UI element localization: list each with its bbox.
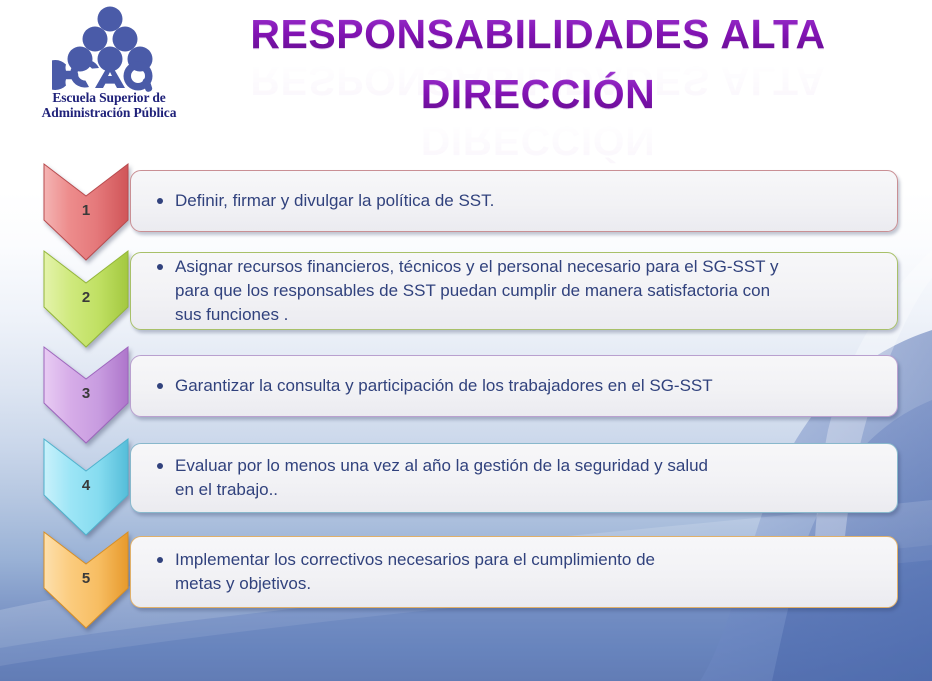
chevron-step-3[interactable] [42, 345, 130, 445]
chevron-step-1[interactable] [42, 162, 130, 262]
slide-canvas: Escuela Superior de Administración Públi… [0, 0, 932, 681]
slide-title: RESPONSABILIDADES ALTA RESPONSABILIDADES… [218, 10, 858, 118]
esap-logo-mark [52, 6, 168, 92]
bullet-text-cont: metas y objetivos. [153, 572, 883, 596]
bullet-text: Garantizar la consulta y participación d… [153, 374, 883, 398]
bullet-text: Definir, firmar y divulgar la política d… [153, 189, 883, 213]
bullet-text-cont: sus funciones . [153, 303, 883, 327]
page-title-line-1-text: RESPONSABILIDADES ALTA [250, 11, 825, 57]
esap-logo-text-line2: Administración Pública [14, 105, 204, 120]
bullet-text: Evaluar por lo menos una vez al año la g… [153, 454, 883, 478]
callout-box-1: Definir, firmar y divulgar la política d… [130, 170, 898, 232]
chevron-step-5[interactable] [42, 530, 130, 630]
bullet-text-cont: para que los responsables de SST puedan … [153, 279, 883, 303]
callout-box-4: Evaluar por lo menos una vez al año la g… [130, 443, 898, 513]
callout-box-3: Garantizar la consulta y participación d… [130, 355, 898, 417]
page-title-line-2: DIRECCIÓN DIRECCIÓN [218, 70, 858, 118]
esap-logo: Escuela Superior de Administración Públi… [14, 4, 204, 130]
callout-box-2: Asignar recursos financieros, técnicos y… [130, 252, 898, 330]
chevron-step-2[interactable] [42, 249, 130, 349]
callout-box-5: Implementar los correctivos necesarios p… [130, 536, 898, 608]
esap-logo-text: Escuela Superior de Administración Públi… [14, 90, 204, 120]
esap-logo-text-line1: Escuela Superior de [14, 90, 204, 105]
bullet-text: Asignar recursos financieros, técnicos y… [153, 255, 883, 279]
page-title-line-2-text: DIRECCIÓN [421, 71, 656, 117]
bullet-text: Implementar los correctivos necesarios p… [153, 548, 883, 572]
chevron-step-4[interactable] [42, 437, 130, 537]
page-title-line-1: RESPONSABILIDADES ALTA RESPONSABILIDADES… [218, 10, 858, 58]
page-title-line-2-reflection: DIRECCIÓN [218, 118, 858, 166]
bullet-text-cont: en el trabajo.. [153, 478, 883, 502]
